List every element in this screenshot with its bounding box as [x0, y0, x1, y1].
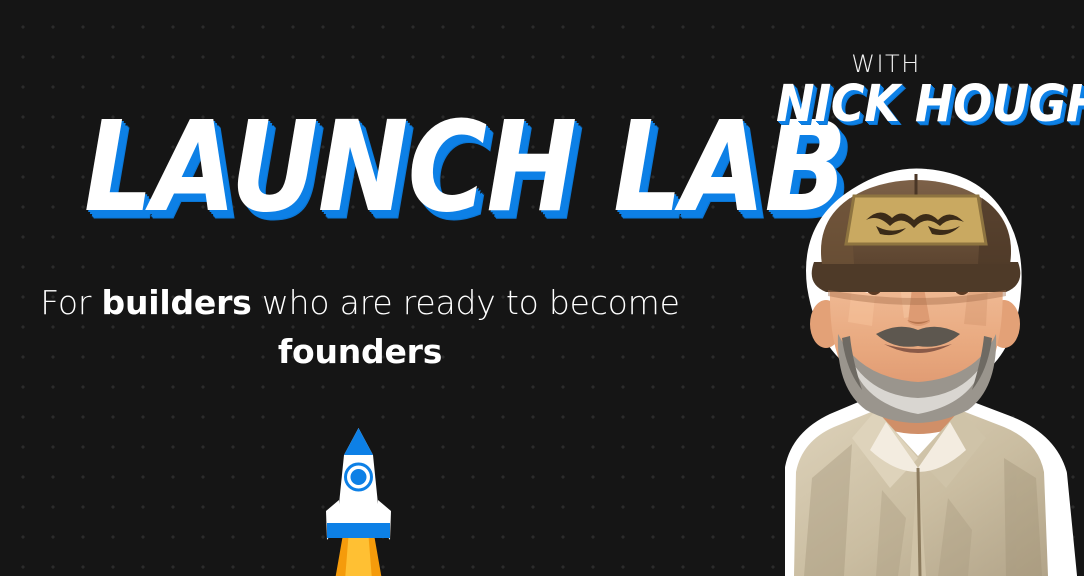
- with-label: WITH: [786, 50, 986, 78]
- hero-subtitle: For builders who are ready to become fou…: [40, 278, 680, 376]
- left-content-column: LAUNCH LAB For builders who are ready to…: [0, 0, 680, 576]
- subtitle-run-0: For: [40, 283, 101, 322]
- host-portrait: [676, 138, 1084, 576]
- subtitle-run-1: builders: [102, 283, 252, 322]
- rocket-nose-cone: [344, 428, 373, 455]
- rocket-icon: [286, 420, 431, 576]
- cap-brim: [812, 262, 1021, 292]
- rocket-band: [327, 523, 390, 538]
- portrait-zipper: [918, 468, 920, 576]
- subtitle-run-2: who are ready to become: [252, 283, 680, 322]
- rocket-window-center: [351, 469, 367, 485]
- host-name: NICK HOUGH: [776, 79, 1084, 129]
- subtitle-run-3: founders: [278, 332, 442, 371]
- promo-banner: LAUNCH LAB For builders who are ready to…: [0, 0, 1084, 576]
